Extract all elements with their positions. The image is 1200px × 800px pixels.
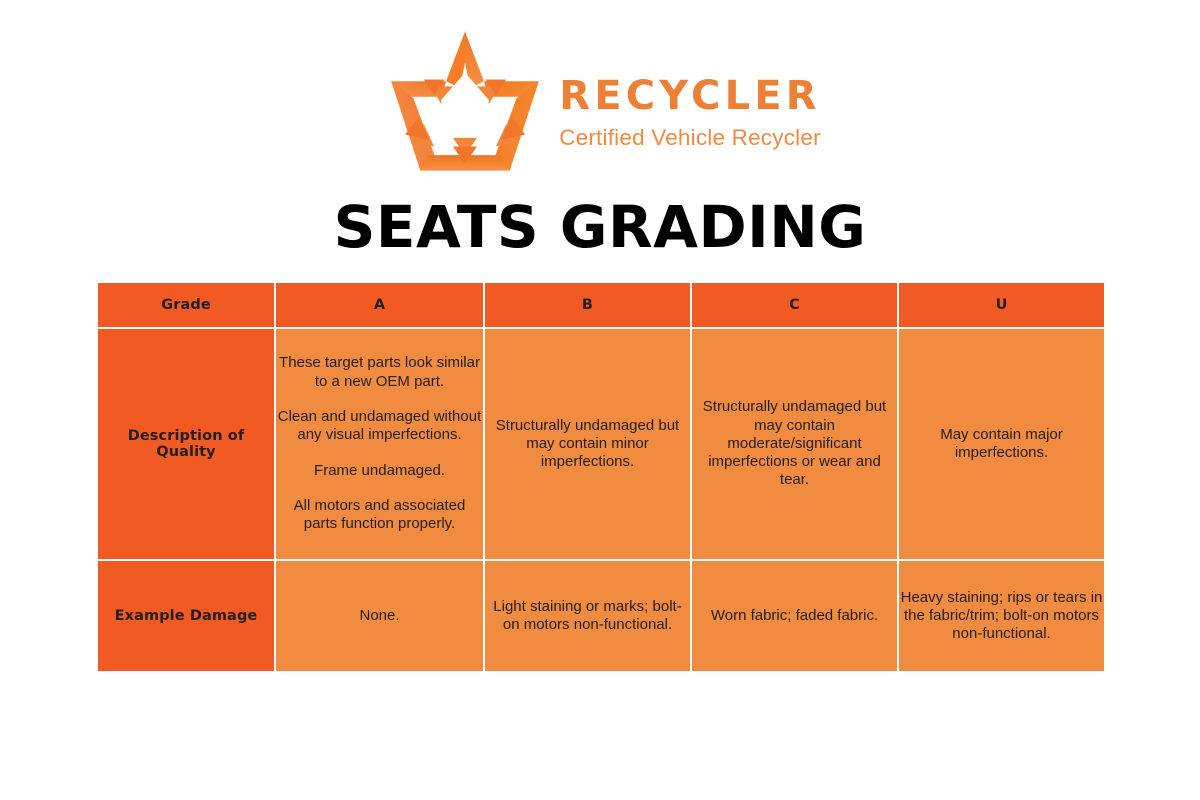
grading-sheet-page: RECYCLER Certified Vehicle Recycler SEAT… [0,0,1200,800]
logo-wordmark: RECYCLER Certified Vehicle Recycler [559,49,821,152]
cell-description-u: May contain major imperfections. [898,328,1105,560]
table-row: Description of Quality These target part… [97,328,1105,560]
page-title: SEATS GRADING [0,196,1200,260]
logo-inner: RECYCLER Certified Vehicle Recycler [379,28,821,174]
seats-grading-table: Grade A B C U Description of Quality The… [96,281,1106,673]
brand-tagline: Certified Vehicle Recycler [559,123,821,152]
cell-damage-b: Light staining or marks; bolt-on motors … [484,560,691,672]
cell-damage-a: None. [275,560,484,672]
recycling-star-icon [379,28,551,174]
header-grade-a: A [275,282,484,328]
cell-description-c: Structurally undamaged but may contain m… [691,328,898,560]
row-label-description-of-quality: Description of Quality [97,328,275,560]
table-header-row: Grade A B C U [97,282,1105,328]
cell-damage-u: Heavy staining; rips or tears in the fab… [898,560,1105,672]
brand-logo: RECYCLER Certified Vehicle Recycler [0,28,1200,174]
table-row: Example Damage None. Light staining or m… [97,560,1105,672]
header-grade-c: C [691,282,898,328]
row-label-example-damage: Example Damage [97,560,275,672]
cell-description-a: These target parts look similar to a new… [275,328,484,560]
brand-name: RECYCLER [559,75,821,117]
header-grade-u: U [898,282,1105,328]
header-grade: Grade [97,282,275,328]
cell-description-b: Structurally undamaged but may contain m… [484,328,691,560]
header-grade-b: B [484,282,691,328]
cell-damage-c: Worn fabric; faded fabric. [691,560,898,672]
